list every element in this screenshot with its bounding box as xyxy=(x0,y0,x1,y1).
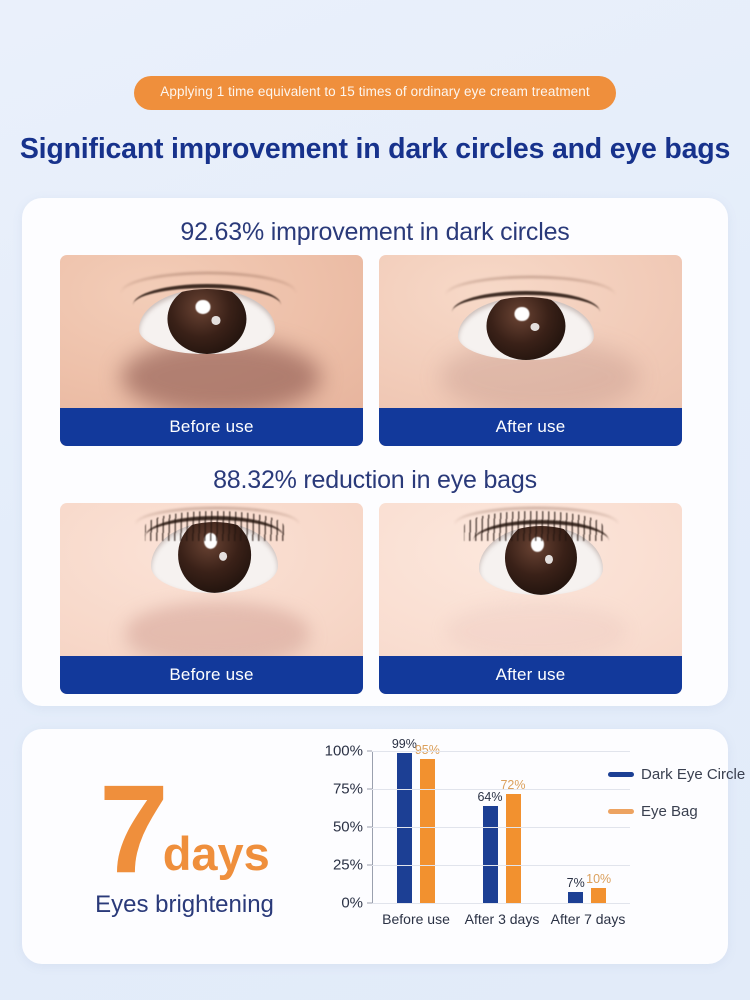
chart-gridline: 100% xyxy=(372,751,630,752)
chart-legend-item[interactable]: Eye Bag xyxy=(608,803,728,820)
chart-bar-value-label: 95% xyxy=(415,743,440,757)
chart-bar: 64% xyxy=(483,806,498,903)
days-number: 7 xyxy=(99,776,165,884)
chart-bar: 72% xyxy=(506,794,521,903)
section-title-eye-bags: 88.32% reduction in eye bags xyxy=(22,466,728,495)
before-after-card: 92.63% improvement in dark circles Befor… xyxy=(22,198,728,706)
photo-caption: Before use xyxy=(60,408,363,446)
chart-legend-label: Dark Eye Circle xyxy=(641,766,745,783)
chart-bar-value-label: 64% xyxy=(477,790,502,804)
results-chart-card: 7 days Eyes brightening 99%95%64%72%7%10… xyxy=(22,729,728,964)
chart-x-label: After 7 days xyxy=(545,911,631,927)
chart-y-tick-label: 0% xyxy=(341,895,363,912)
photo-caption: Before use xyxy=(60,656,363,694)
chart-y-tick-mark xyxy=(367,903,372,904)
chart-y-tick-mark xyxy=(367,789,372,790)
promo-pill-text: Applying 1 time equivalent to 15 times o… xyxy=(134,76,615,110)
chart-y-tick-label: 75% xyxy=(333,781,363,798)
chart-x-axis-labels: Before useAfter 3 daysAfter 7 days xyxy=(373,911,631,927)
section-title-dark-circles: 92.63% improvement in dark circles xyxy=(22,218,728,247)
photo-before-eye-bags: Before use xyxy=(60,503,363,694)
bar-chart: 99%95%64%72%7%10% 0%25%50%75%100% Before… xyxy=(318,741,718,953)
chart-legend-swatch xyxy=(608,772,634,777)
chart-gridline: 50% xyxy=(372,827,630,828)
photo-after-dark-circles: After use xyxy=(379,255,682,446)
chart-legend-swatch xyxy=(608,809,634,814)
days-subtitle: Eyes brightening xyxy=(52,891,317,919)
photo-before-dark-circles: Before use xyxy=(60,255,363,446)
photo-row-dark-circles: Before use After use xyxy=(60,255,682,446)
promo-banner: Applying 1 time equivalent to 15 times o… xyxy=(0,76,750,110)
chart-bar-value-label: 99% xyxy=(392,737,417,751)
chart-y-tick-mark xyxy=(367,827,372,828)
days-unit: days xyxy=(163,830,270,877)
chart-x-label: After 3 days xyxy=(459,911,545,927)
chart-bar: 95% xyxy=(420,759,435,903)
chart-gridline: 0% xyxy=(372,903,630,904)
page-title: Significant improvement in dark circles … xyxy=(0,133,750,166)
chart-bar-value-label: 10% xyxy=(586,872,611,886)
chart-bar: 10% xyxy=(591,888,606,903)
chart-bar-value-label: 7% xyxy=(567,876,585,890)
photo-after-eye-bags: After use xyxy=(379,503,682,694)
photo-row-eye-bags: Before use After use xyxy=(60,503,682,694)
chart-bar: 7% xyxy=(568,892,583,903)
seven-days-block: 7 days Eyes brightening xyxy=(52,743,317,943)
chart-y-tick-mark xyxy=(367,751,372,752)
photo-caption: After use xyxy=(379,656,682,694)
chart-y-tick-label: 50% xyxy=(333,819,363,836)
chart-legend-label: Eye Bag xyxy=(641,803,698,820)
chart-plot-area: 99%95%64%72%7%10% 0%25%50%75%100% xyxy=(372,751,630,903)
chart-legend-item[interactable]: Dark Eye Circle xyxy=(608,766,728,783)
chart-y-tick-label: 25% xyxy=(333,857,363,874)
chart-gridline: 75% xyxy=(372,789,630,790)
chart-x-label: Before use xyxy=(373,911,459,927)
chart-y-tick-mark xyxy=(367,865,372,866)
chart-legend: Dark Eye CircleEye Bag xyxy=(608,766,728,840)
photo-caption: After use xyxy=(379,408,682,446)
chart-y-tick-label: 100% xyxy=(325,743,363,760)
chart-gridline: 25% xyxy=(372,865,630,866)
